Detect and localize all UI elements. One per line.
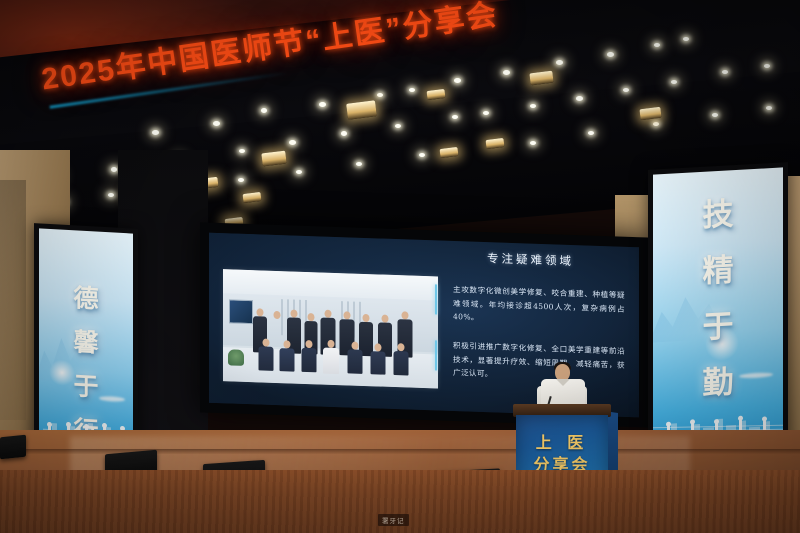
- slide-bullet-2: 积极引进推广数字化修复、全口美学重建等前沿技术，显著提升疗效、缩短周期、减轻痛苦…: [439, 339, 625, 386]
- photo-plant: [228, 349, 244, 366]
- spot-light: [588, 131, 594, 135]
- spot-light: [530, 104, 536, 108]
- photo-person: [301, 340, 316, 373]
- spot-light: [395, 124, 401, 128]
- spot-light: [213, 121, 220, 126]
- spot-light: [671, 80, 677, 84]
- podium-title-line1: 上 医: [516, 429, 608, 453]
- spot-light: [238, 178, 244, 182]
- spot-light: [319, 102, 326, 107]
- spot-light: [530, 141, 536, 145]
- photo-person: [370, 343, 385, 375]
- bullet-accent-bar: [435, 340, 437, 370]
- spot-light: [683, 37, 689, 41]
- slide-bullet-1: 主攻数字化微创美学修复、咬合重建、种植等疑难领域。年均接诊超4500人次，复杂病…: [439, 283, 625, 330]
- image-watermark: 署牙记: [378, 514, 409, 526]
- spot-light: [576, 96, 583, 101]
- spot-light: [764, 64, 770, 68]
- conference-stage-photo: 2025年中国医师节“上医”分享会 专注疑难领域: [0, 0, 800, 533]
- spot-light: [653, 122, 659, 126]
- photo-person: [347, 341, 362, 374]
- spot-light: [239, 149, 245, 153]
- spot-light: [623, 88, 629, 92]
- spot-light: [607, 52, 614, 57]
- spot-light: [296, 170, 302, 174]
- led-panel-right: 技 精 于 勤: [653, 167, 783, 450]
- spot-light: [108, 193, 114, 197]
- floor-monitor-speaker: [0, 435, 26, 460]
- spot-light: [409, 88, 415, 92]
- spot-light: [152, 130, 159, 135]
- photo-wall-monitor: [229, 299, 253, 324]
- led-char: 精: [667, 242, 769, 293]
- spot-light: [452, 115, 458, 119]
- spot-light: [341, 131, 347, 136]
- spot-light: [419, 153, 425, 157]
- spot-light: [377, 93, 383, 97]
- spot-light: [712, 113, 718, 117]
- led-char: 德: [53, 277, 119, 317]
- spot-light: [766, 106, 772, 110]
- photo-person: [258, 338, 273, 371]
- led-char: 馨: [53, 321, 119, 361]
- led-panel-left: 德 馨 于 行: [39, 228, 133, 459]
- led-panel-right-text: 技 精 于 勤: [667, 186, 769, 405]
- bullet-accent-bar: [435, 284, 437, 314]
- led-char: 勤: [667, 354, 769, 405]
- spot-light: [356, 162, 362, 166]
- led-char: 于: [667, 298, 769, 349]
- photo-person: [393, 343, 408, 376]
- wall-panel-left: [0, 180, 26, 420]
- photo-person: [279, 340, 294, 372]
- spot-light: [654, 43, 660, 47]
- photo-person: [323, 340, 339, 375]
- led-char: 技: [667, 186, 769, 237]
- spot-light: [722, 70, 728, 74]
- spot-light: [111, 167, 117, 172]
- venue-banner-text: 2025年中国医师节“上医”分享会: [38, 0, 500, 98]
- spot-light: [289, 140, 296, 145]
- led-char: 于: [53, 365, 119, 405]
- spot-light: [483, 111, 489, 115]
- slide-team-photo: [223, 269, 438, 388]
